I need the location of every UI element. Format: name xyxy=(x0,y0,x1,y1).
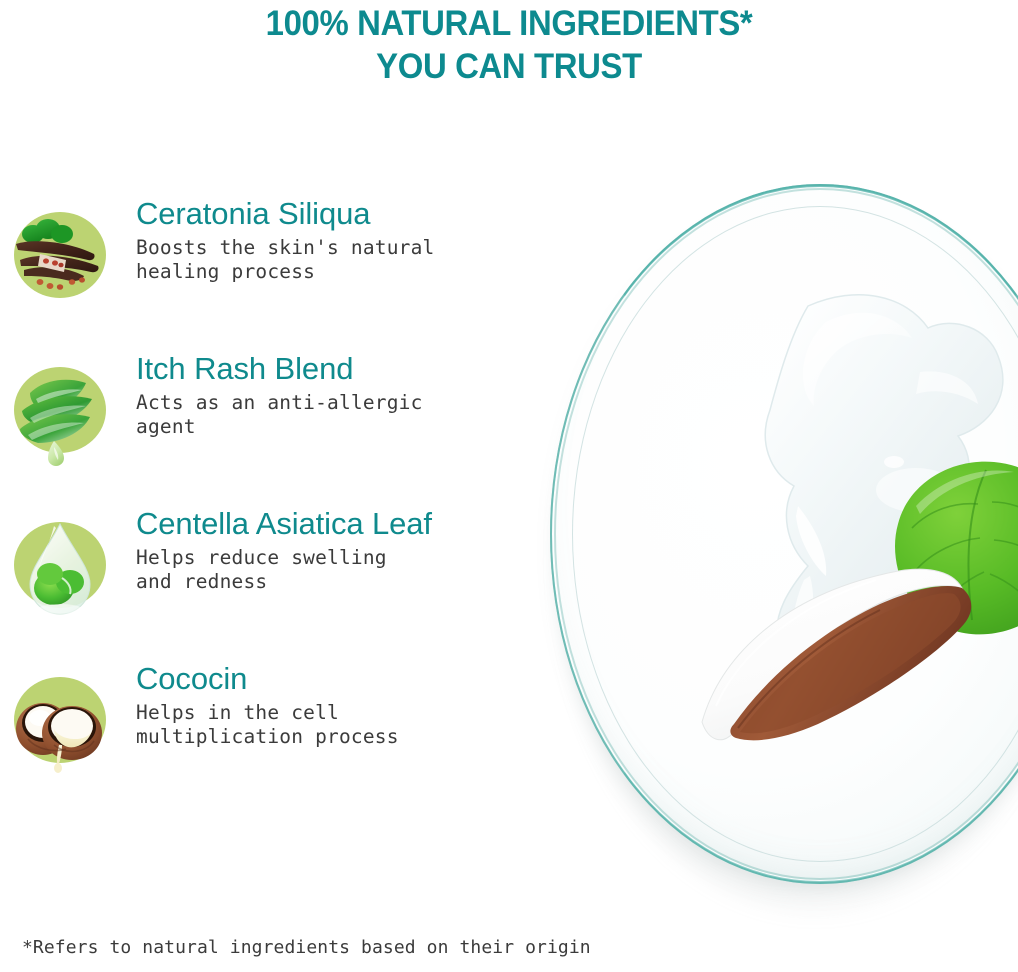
carob-pod-icon xyxy=(10,208,110,312)
aloe-vera-art xyxy=(10,363,110,467)
ingredient-item: Cococin Helps in the cell multiplication… xyxy=(0,661,560,816)
page-title: 100% NATURAL INGREDIENTS* YOU CAN TRUST xyxy=(31,2,988,88)
coconut-icon xyxy=(10,673,110,777)
ingredient-description: Acts as an anti-allergic agent xyxy=(136,391,546,439)
centella-droplet-art xyxy=(10,518,110,622)
carob-pod-art xyxy=(10,208,110,312)
ingredient-description: Helps in the cell multiplication process xyxy=(136,701,546,749)
ingredient-text: Itch Rash Blend Acts as an anti-allergic… xyxy=(136,351,546,439)
coconut-slice xyxy=(678,546,1018,796)
ingredient-title: Itch Rash Blend xyxy=(136,351,546,387)
headline-line-1: 100% NATURAL INGREDIENTS* xyxy=(266,4,753,43)
ingredient-text: Cococin Helps in the cell multiplication… xyxy=(136,661,546,749)
footnote-disclaimer: *Refers to natural ingredients based on … xyxy=(22,937,591,959)
ingredient-description: Helps reduce swelling and redness xyxy=(136,546,546,594)
centella-droplet-icon xyxy=(10,518,110,622)
ingredient-title: Cococin xyxy=(136,661,546,697)
ingredient-description: Boosts the skin's natural healing proces… xyxy=(136,236,546,284)
ingredient-item: Centella Asiatica Leaf Helps reduce swel… xyxy=(0,506,560,661)
ingredient-title: Centella Asiatica Leaf xyxy=(136,506,546,542)
product-photo xyxy=(538,176,1018,936)
ingredient-text: Centella Asiatica Leaf Helps reduce swel… xyxy=(136,506,546,594)
ingredient-text: Ceratonia Siliqua Boosts the skin's natu… xyxy=(136,196,546,284)
coconut-art xyxy=(10,673,110,777)
ingredient-list: Ceratonia Siliqua Boosts the skin's natu… xyxy=(0,196,560,816)
ingredient-item: Itch Rash Blend Acts as an anti-allergic… xyxy=(0,351,560,506)
ingredient-item: Ceratonia Siliqua Boosts the skin's natu… xyxy=(0,196,560,351)
aloe-vera-icon xyxy=(10,363,110,467)
headline-line-2: YOU CAN TRUST xyxy=(31,45,988,88)
ingredient-title: Ceratonia Siliqua xyxy=(136,196,546,232)
